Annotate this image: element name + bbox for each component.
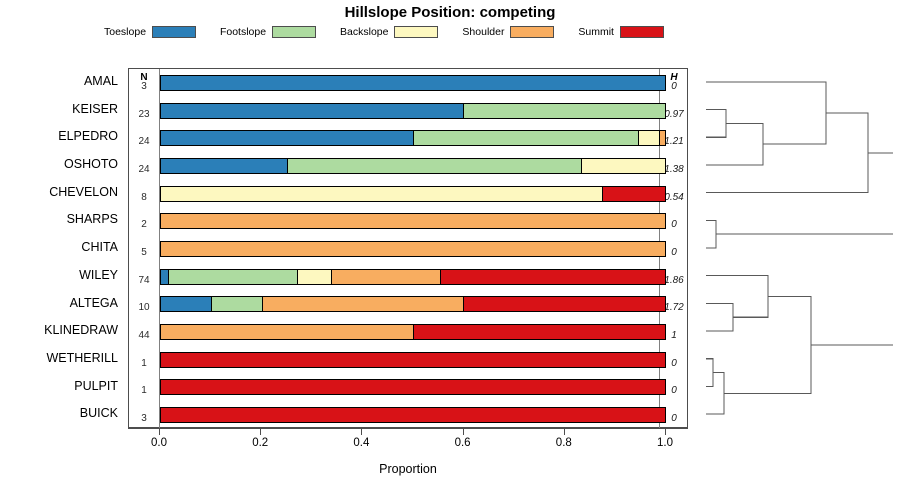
n-value-cell: 10 [129, 299, 159, 318]
n-value-cell: 3 [129, 78, 159, 97]
bar-segment-toeslope[interactable] [161, 297, 211, 311]
y-axis-label: SHARPS [67, 206, 118, 234]
y-axis-label: AMAL [84, 68, 118, 96]
n-value-cell: 24 [129, 133, 159, 152]
stacked-bar[interactable] [160, 158, 666, 174]
bar-segment-shoulder[interactable] [161, 242, 665, 256]
y-axis-label: KEISER [72, 96, 118, 124]
stacked-bar[interactable] [160, 269, 666, 285]
bar-segment-summit[interactable] [463, 297, 665, 311]
y-axis-label: PULPIT [74, 373, 118, 401]
x-axis-tick-label: 0.6 [443, 437, 483, 449]
bar-segment-shoulder[interactable] [659, 131, 665, 145]
stacked-bar[interactable] [160, 379, 666, 395]
bar-segment-backslope[interactable] [581, 159, 665, 173]
x-axis-title: Proportion [128, 462, 688, 476]
dendro-link-root [811, 193, 893, 344]
legend-swatch-icon [510, 26, 554, 38]
bar-segment-toeslope[interactable] [161, 159, 287, 173]
x-axis-tick-label: 1.0 [645, 437, 685, 449]
bar-segment-summit[interactable] [413, 325, 665, 339]
bar-segment-footslope[interactable] [168, 270, 297, 284]
y-axis-label: ALTEGA [70, 290, 118, 318]
bar-segment-summit[interactable] [602, 187, 665, 201]
bar-segment-backslope[interactable] [638, 131, 659, 145]
bar-segment-toeslope[interactable] [161, 76, 665, 90]
bar-segment-summit[interactable] [161, 408, 665, 422]
n-value-cell: 74 [129, 272, 159, 291]
legend-label: Backslope [340, 26, 388, 38]
stacked-bar[interactable] [160, 103, 666, 119]
y-axis-label: WILEY [79, 262, 118, 290]
dendro-link-a3-chevelon [706, 113, 868, 193]
dendro-link-keiser-elpedro [706, 110, 726, 138]
bar-segment-footslope[interactable] [463, 104, 665, 118]
bar-segment-summit[interactable] [440, 270, 665, 284]
dendro-link-d1-buick [706, 373, 724, 415]
legend: ToeslopeFootslopeBackslopeShoulderSummit [104, 24, 664, 40]
n-value-cell: 5 [129, 244, 159, 263]
bar-segment-footslope[interactable] [287, 159, 581, 173]
x-axis-tick-label: 0.2 [240, 437, 280, 449]
n-value-cell: 8 [129, 189, 159, 208]
dendro-link-amal-a2 [706, 82, 826, 144]
x-axis-tick [361, 428, 362, 435]
page-title: Hillslope Position: competing [0, 4, 900, 21]
legend-label: Summit [578, 26, 614, 38]
bar-segment-summit[interactable] [161, 353, 665, 367]
dendrogram [688, 68, 893, 428]
x-axis-tick-label: 0.8 [544, 437, 584, 449]
x-axis-tick [665, 428, 666, 435]
bar-segment-toeslope[interactable] [161, 104, 463, 118]
bar-segment-toeslope[interactable] [161, 270, 168, 284]
legend-label: Shoulder [462, 26, 504, 38]
y-axis-label: KLINEDRAW [44, 317, 118, 345]
n-value-cell: 3 [129, 410, 159, 429]
dendro-link-sharps-chita [706, 220, 716, 248]
stacked-bar[interactable] [160, 296, 666, 312]
dendrogram-svg [688, 68, 893, 428]
y-axis-label: BUICK [80, 400, 118, 428]
legend-swatch-icon [272, 26, 316, 38]
legend-swatch-icon [394, 26, 438, 38]
chart-root: Hillslope Position: competing ToeslopeFo… [0, 0, 900, 500]
bar-segment-shoulder[interactable] [262, 297, 464, 311]
legend-label: Footslope [220, 26, 266, 38]
bar-segment-backslope[interactable] [297, 270, 331, 284]
x-axis-tick [463, 428, 464, 435]
y-axis-label: WETHERILL [46, 345, 118, 373]
n-value-cell: 1 [129, 355, 159, 374]
legend-swatch-icon [152, 26, 196, 38]
n-value-cell: 2 [129, 216, 159, 235]
dendro-link-wetherill-pulpit [706, 359, 713, 387]
stacked-bar[interactable] [160, 352, 666, 368]
y-axis-category-labels: AMALKEISERELPEDROOSHOTOCHEVELONSHARPSCHI… [0, 68, 124, 428]
stacked-bar[interactable] [160, 130, 666, 146]
plot-panel: N H 30230.97241.21241.3880.542050741.861… [128, 68, 688, 428]
x-axis-tick [260, 428, 261, 435]
bar-segment-footslope[interactable] [211, 297, 261, 311]
bar-rows: 30230.97241.21241.3880.542050741.86101.7… [129, 69, 689, 429]
x-axis-tick [564, 428, 565, 435]
legend-swatch-icon [620, 26, 664, 38]
dendro-link-wiley-c1 [706, 276, 768, 318]
stacked-bar[interactable] [160, 407, 666, 423]
dendro-link-a1-oshoto [706, 123, 763, 165]
legend-item-summit[interactable]: Summit [578, 26, 664, 38]
legend-item-toeslope[interactable]: Toeslope [104, 26, 196, 38]
y-axis-label: CHEVELON [49, 179, 118, 207]
bar-segment-shoulder[interactable] [161, 214, 665, 228]
n-value-cell: 1 [129, 382, 159, 401]
x-axis-line [128, 428, 688, 429]
bar-segment-shoulder[interactable] [331, 270, 440, 284]
x-axis-tick [159, 428, 160, 435]
bar-segment-toeslope[interactable] [161, 131, 413, 145]
bar-segment-footslope[interactable] [413, 131, 638, 145]
bar-segment-shoulder[interactable] [161, 325, 413, 339]
y-axis-label: ELPEDRO [58, 123, 118, 151]
dendro-link-altega-klinedraw [706, 303, 733, 331]
legend-item-shoulder[interactable]: Shoulder [462, 26, 554, 38]
x-axis-tick-label: 0.0 [139, 437, 179, 449]
y-axis-label: CHITA [81, 234, 118, 262]
stacked-bar[interactable] [160, 241, 666, 257]
stacked-bar[interactable] [160, 324, 666, 340]
stacked-bar[interactable] [160, 75, 666, 91]
bar-segment-backslope[interactable] [161, 187, 602, 201]
n-value-cell: 23 [129, 106, 159, 125]
legend-item-footslope[interactable]: Footslope [220, 26, 316, 38]
n-value-cell: 44 [129, 327, 159, 346]
stacked-bar[interactable] [160, 213, 666, 229]
y-axis-label: OSHOTO [64, 151, 118, 179]
n-value-cell: 24 [129, 161, 159, 180]
bar-segment-summit[interactable] [161, 380, 665, 394]
x-axis-tick-label: 0.4 [341, 437, 381, 449]
legend-item-backslope[interactable]: Backslope [340, 26, 438, 38]
stacked-bar[interactable] [160, 186, 666, 202]
legend-label: Toeslope [104, 26, 146, 38]
